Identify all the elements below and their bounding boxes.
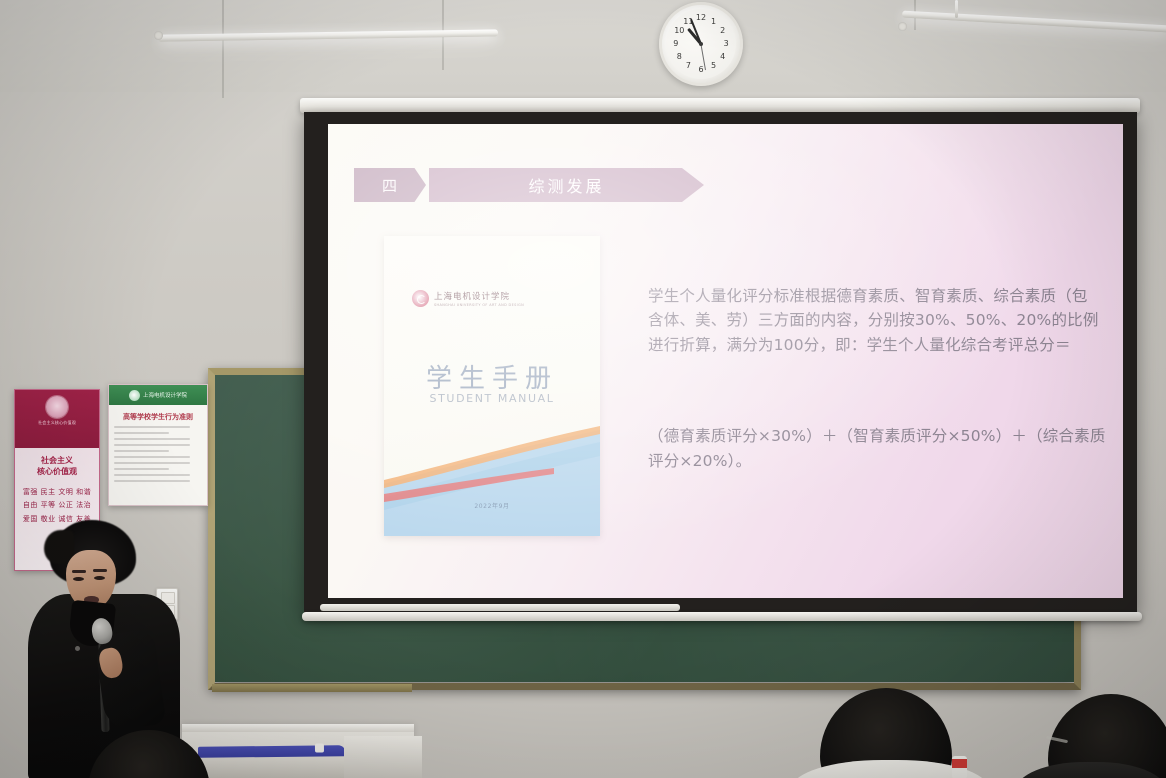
- chalkboard-tray: [212, 684, 412, 692]
- poster-red-header: 社会主义核心价值观: [15, 390, 99, 448]
- presenter-eye-left: [73, 577, 84, 581]
- poster-white-bodylines: [109, 426, 207, 482]
- poster-text-line: [114, 468, 169, 470]
- booklet-date: 2022年9月: [384, 501, 600, 510]
- poster-student-code-of-conduct: 上海电机设计学院 高等学校学生行为准则: [108, 384, 208, 506]
- chalk-rail: [320, 604, 680, 611]
- poster-white-title: 高等学校学生行为准则: [109, 405, 207, 426]
- projector-screen-casing: [300, 98, 1140, 113]
- presentation-slide: 四 综测发展 上海电机设计学院 SHANGHAI UNIVERSITY OF A…: [328, 124, 1123, 598]
- clock-number-1: 1: [711, 18, 716, 26]
- booklet-subtitle: STUDENT MANUAL: [384, 392, 600, 405]
- poster-text-line: [114, 444, 190, 446]
- presenter-brow-right: [93, 569, 107, 572]
- values-row-2: 自由 平等 公正 法治: [19, 499, 95, 512]
- clock-number-7: 7: [686, 62, 691, 70]
- slide-section-title: 综测发展: [429, 168, 704, 202]
- poster-white-header: 上海电机设计学院: [109, 385, 207, 405]
- podium-top-surface: [182, 724, 414, 732]
- clock-number-5: 5: [711, 62, 716, 70]
- poster-text-line: [114, 432, 169, 434]
- poster-text-line: [114, 474, 190, 476]
- ceiling-hanger-rod: [955, 0, 958, 18]
- presenter-brow-left: [72, 570, 86, 573]
- fluorescent-tube-right-cap: [898, 22, 907, 31]
- poster-red-title-line1: 社会主义: [15, 456, 99, 467]
- poster-emblem-caption: 社会主义核心价值观: [15, 420, 99, 426]
- values-row-1: 富强 民主 文明 和谐: [19, 486, 95, 499]
- poster-white-band-text: 上海电机设计学院: [143, 391, 187, 399]
- clock-number-8: 8: [677, 53, 682, 61]
- emblem-icon: [46, 396, 68, 418]
- booklet-title: 学生手册: [384, 358, 600, 395]
- side-desk: [344, 736, 422, 778]
- booklet-university-names: 上海电机设计学院 SHANGHAI UNIVERSITY OF ART AND …: [434, 290, 524, 307]
- ceiling-band: [0, 0, 1166, 92]
- classroom-scene: 12 1 2 3 4 5 6 7 8 9 10 11 社会主义核心价值观 社会主…: [0, 0, 1166, 778]
- wall-clock: 12 1 2 3 4 5 6 7 8 9 10 11: [659, 2, 743, 86]
- booklet-university-cn: 上海电机设计学院: [434, 290, 524, 302]
- poster-red-title-line2: 核心价值观: [15, 467, 99, 478]
- bottle-label: [952, 759, 967, 768]
- clock-number-12: 12: [696, 14, 706, 22]
- poster-text-line: [114, 450, 169, 452]
- poster-text-line: [114, 462, 190, 464]
- clock-number-9: 9: [673, 40, 678, 48]
- clock-number-4: 4: [720, 53, 725, 61]
- slide-header-banner: 四 综测发展: [354, 168, 704, 202]
- presenter-coat-button: [75, 646, 80, 651]
- projector-screen-weight-bar[interactable]: [302, 612, 1142, 621]
- clock-face: 12 1 2 3 4 5 6 7 8 9 10 11: [666, 9, 736, 79]
- slide-section-number: 四: [354, 168, 426, 202]
- clock-center-pin: [699, 42, 703, 46]
- water-bottle: [952, 756, 967, 778]
- booklet-wave-graphic: [384, 406, 600, 536]
- student-manual-booklet-image: 上海电机设计学院 SHANGHAI UNIVERSITY OF ART AND …: [384, 236, 600, 536]
- poster-text-line: [114, 426, 190, 428]
- poster-text-line: [114, 456, 190, 458]
- booklet-logo-row: 上海电机设计学院 SHANGHAI UNIVERSITY OF ART AND …: [412, 290, 524, 307]
- clock-number-6: 6: [698, 66, 703, 74]
- university-logo-icon: [129, 390, 140, 401]
- blue-cloth: [198, 745, 346, 758]
- fluorescent-tube-left-cap: [154, 31, 163, 40]
- poster-text-line: [114, 480, 190, 482]
- slide-body-text: 学生个人量化评分标准根据德育素质、智育素质、综合素质（包含体、美、劳）三方面的内…: [648, 284, 1103, 357]
- wall-seam-left: [222, 0, 224, 98]
- poster-red-title: 社会主义 核心价值观: [15, 456, 99, 478]
- slide-formula-text: （德育素质评分×30%）＋（智育素质评分×50%）＋（综合素质评分×20%）。: [648, 424, 1110, 474]
- booklet-university-en: SHANGHAI UNIVERSITY OF ART AND DESIGN: [434, 303, 524, 307]
- clock-number-3: 3: [724, 40, 729, 48]
- university-swirl-logo-icon: [412, 290, 429, 307]
- poster-text-line: [114, 438, 190, 440]
- clock-number-2: 2: [720, 27, 725, 35]
- presenter-eye-right: [94, 576, 105, 580]
- clock-number-10: 10: [674, 27, 684, 35]
